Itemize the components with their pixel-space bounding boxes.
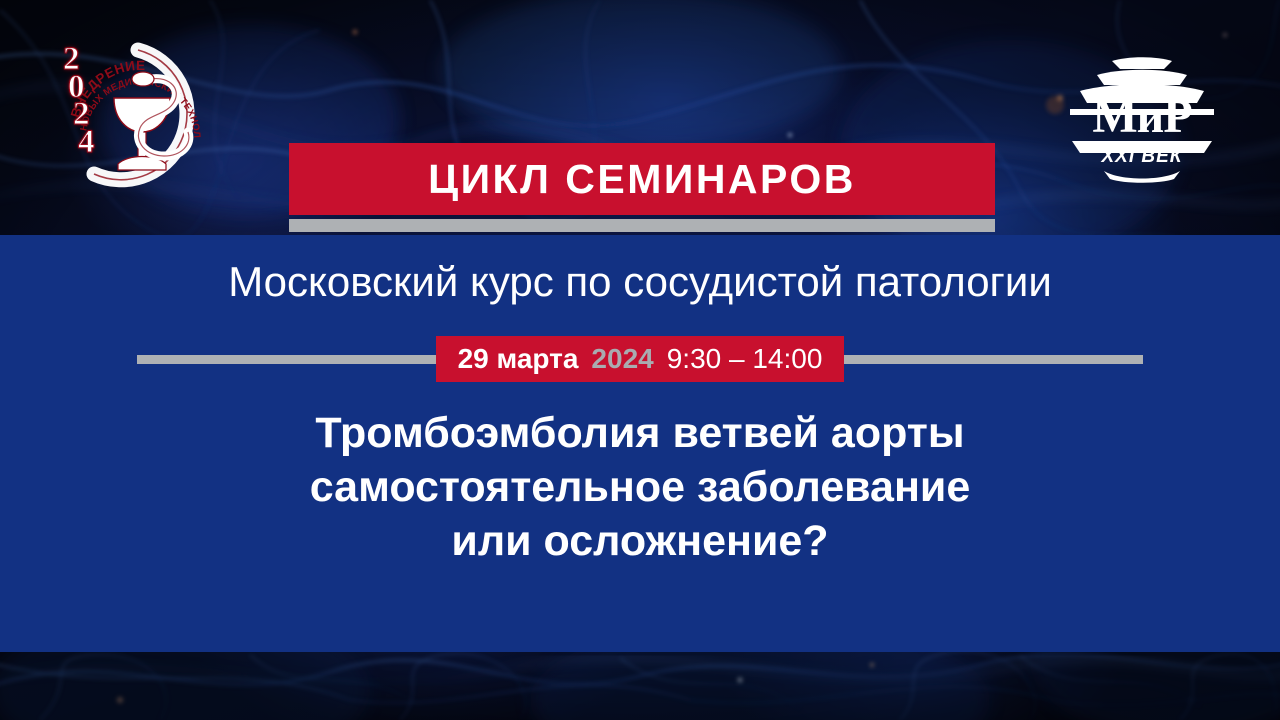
emblem-year: 2 0 2 4 xyxy=(48,46,95,157)
date-day: 29 марта xyxy=(458,345,579,373)
emblem-year-digit-4: 4 xyxy=(78,129,95,157)
mir-logo-word: МиР xyxy=(1042,93,1242,141)
medical-technologies-emblem: ВНЕДРЕНИЕ НОВЫХ МЕДИЦИНСКИХ ТЕХНОЛОГИЙ 2… xyxy=(42,28,222,208)
mir-logo-subtitle: XXI ВЕК xyxy=(1042,147,1242,166)
course-subtitle: Московский курс по сосудистой патологии xyxy=(0,260,1280,304)
date-row: 29 марта 2024 9:30 – 14:00 xyxy=(0,336,1280,382)
seminar-banner-box: ЦИКЛ СЕМИНАРОВ xyxy=(289,143,995,215)
topic-line-2: самостоятельное заболевание xyxy=(0,460,1280,514)
banner-underbar xyxy=(289,219,995,232)
date-time: 9:30 – 14:00 xyxy=(667,345,823,373)
date-rule-left xyxy=(137,355,436,364)
date-year: 2024 xyxy=(591,345,653,373)
topic-title: Тромбоэмболия ветвей аорты самостоятельн… xyxy=(0,406,1280,569)
seminar-banner-label: ЦИКЛ СЕМИНАРОВ xyxy=(428,159,856,200)
seminar-banner: ЦИКЛ СЕМИНАРОВ xyxy=(289,143,995,232)
mir-xxi-vek-logo: МиР XXI ВЕК xyxy=(1042,55,1242,185)
date-badge: 29 марта 2024 9:30 – 14:00 xyxy=(436,336,845,382)
seminar-announcement-slide: ВНЕДРЕНИЕ НОВЫХ МЕДИЦИНСКИХ ТЕХНОЛОГИЙ 2… xyxy=(0,0,1280,720)
topic-line-3: или осложнение? xyxy=(0,514,1280,568)
date-rule-right xyxy=(844,355,1143,364)
topic-line-1: Тромбоэмболия ветвей аорты xyxy=(0,406,1280,460)
